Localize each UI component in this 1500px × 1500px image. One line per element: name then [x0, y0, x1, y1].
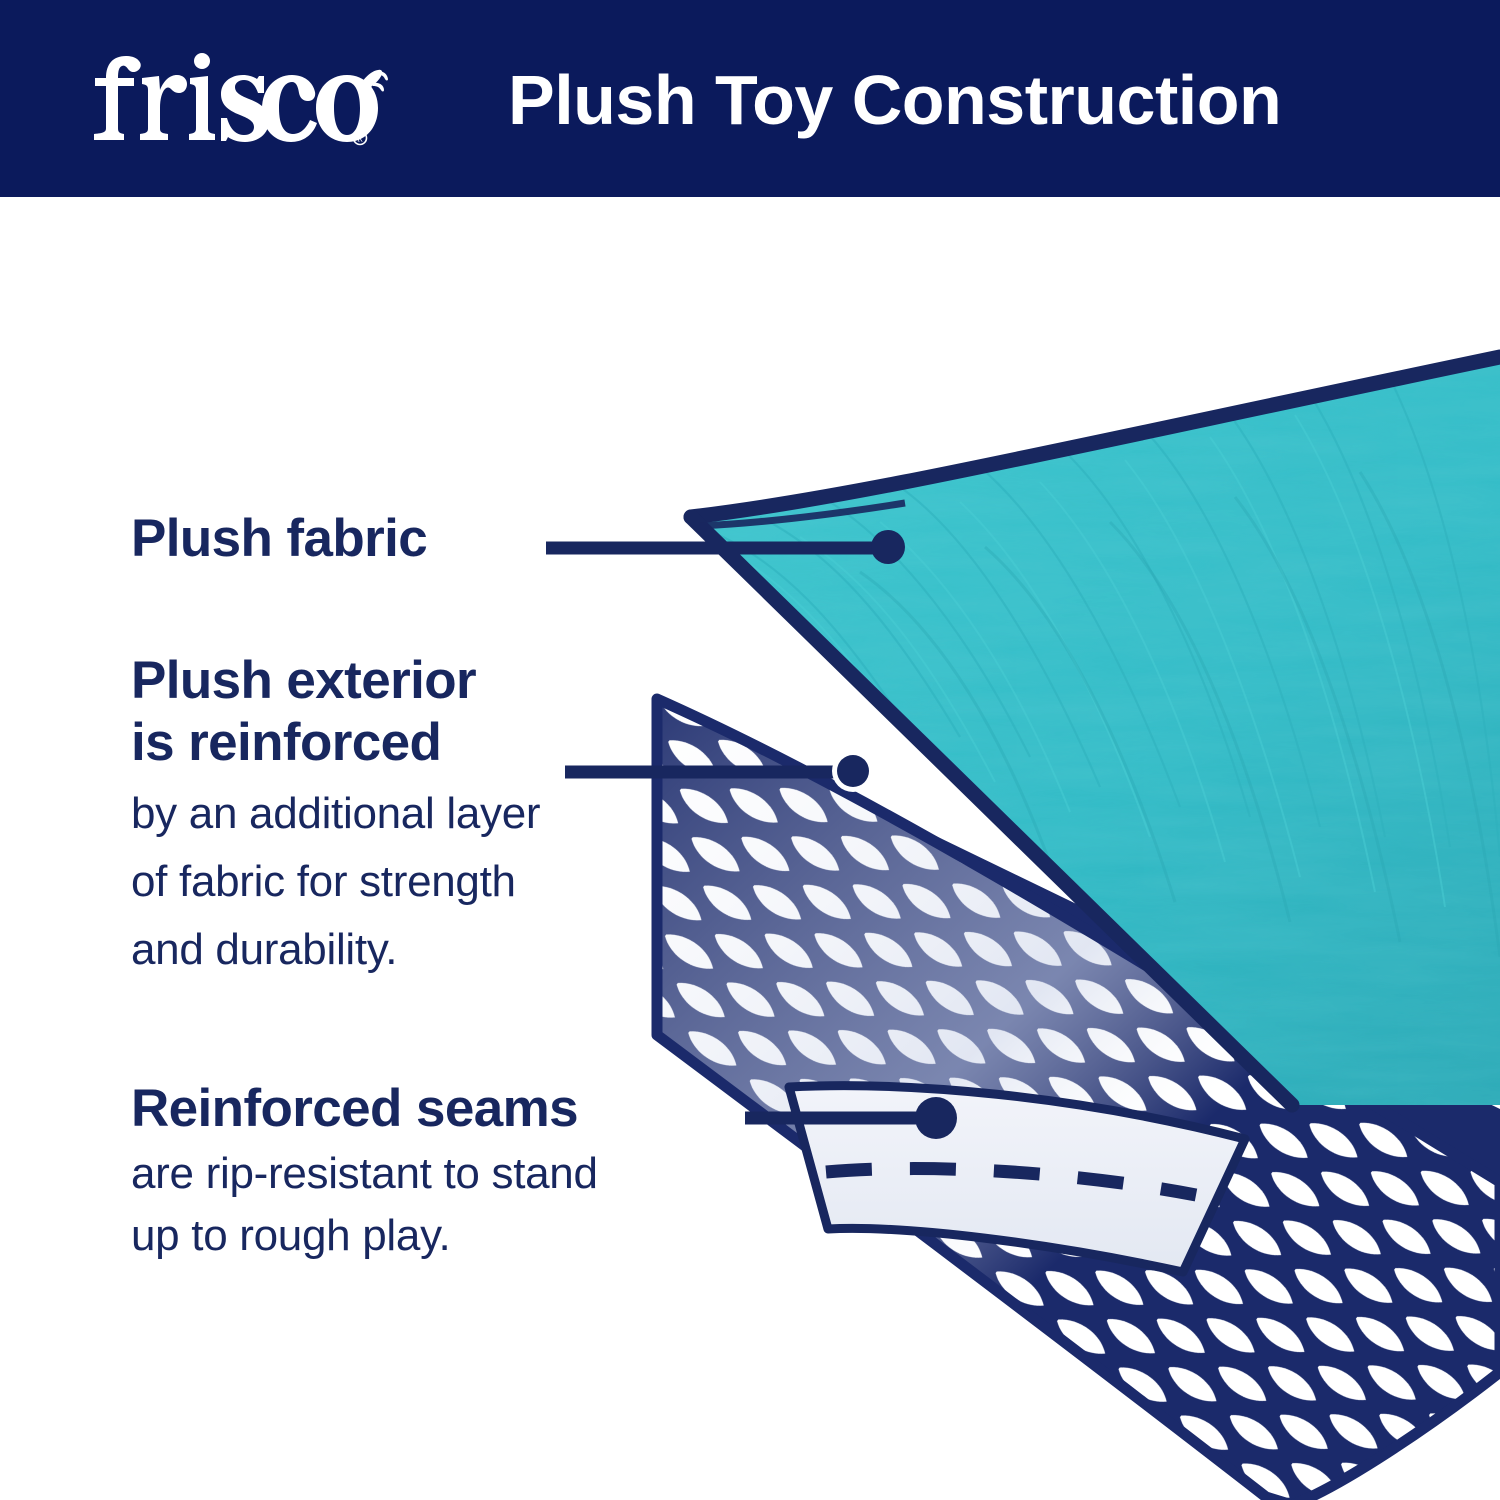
leader-dot-reinforced-seams: [915, 1097, 957, 1139]
callout-plush-exterior-heading-line-2: is reinforced: [131, 712, 540, 774]
callout-reinforced-seams: Reinforced seams are rip-resistant to st…: [131, 1078, 598, 1264]
leader-dot-plush-fabric: [871, 530, 905, 564]
frisco-logo: R: [88, 50, 388, 150]
callout-plush-exterior: Plush exterior is reinforced by an addit…: [131, 650, 540, 978]
callout-reinforced-seams-heading: Reinforced seams: [131, 1078, 598, 1140]
callout-plush-exterior-body-line-3: and durability.: [131, 922, 540, 978]
callout-reinforced-seams-body-line-2: up to rough play.: [131, 1208, 598, 1264]
leader-dot-plush-exterior: [837, 755, 869, 787]
callout-plush-exterior-body-line-2: of fabric for strength: [131, 854, 540, 910]
callout-plush-exterior-body-line-1: by an additional layer: [131, 786, 540, 842]
callout-plush-fabric-heading: Plush fabric: [131, 508, 427, 570]
svg-text:R: R: [357, 135, 363, 144]
header-bar: R Plush Toy Construction: [0, 0, 1500, 197]
callout-plush-exterior-heading-line-1: Plush exterior: [131, 650, 540, 712]
callout-reinforced-seams-body-line-1: are rip-resistant to stand: [131, 1146, 598, 1202]
page-title: Plush Toy Construction: [508, 52, 1281, 148]
callout-plush-fabric: Plush fabric: [131, 508, 427, 570]
